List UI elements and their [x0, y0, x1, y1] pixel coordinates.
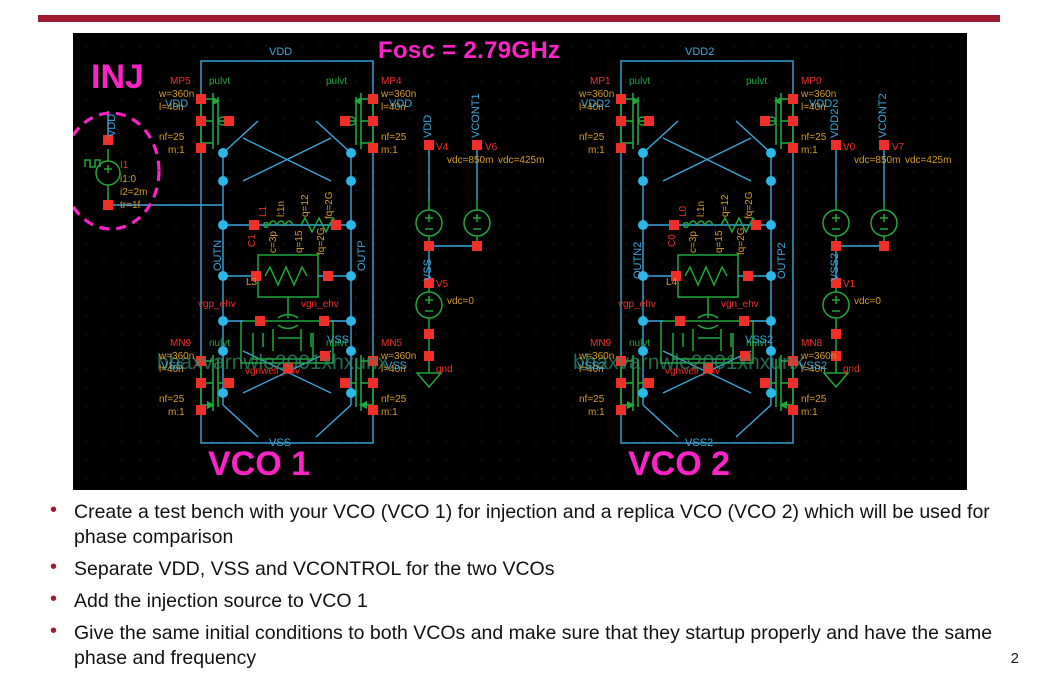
vco1-mp4-nf: nf=25: [381, 133, 406, 143]
fosc-title: Fosc = 2.79GHz: [378, 37, 560, 65]
vco1-supply-vcont-net: VCONT1: [471, 93, 482, 138]
list-item: • Give the same initial conditions to bo…: [46, 621, 1006, 671]
vco2-mp1-bulk: VDD2: [581, 99, 610, 110]
vco2-mp1-model: pulvt: [629, 77, 650, 87]
vco2-mn8-m: m:1: [801, 408, 818, 418]
vco1-mp4-m: m:1: [381, 146, 398, 156]
vco2-source-v7-value: vdc=425m: [905, 156, 951, 166]
vco1-source-v6-name: V6: [485, 143, 497, 153]
slide-root: Fosc = 2.79GHz INJ VCO 1 VCO 2 bbaxvarnw…: [0, 0, 1037, 689]
vco1-inductor-fq: fq=2G: [325, 191, 335, 219]
vco1-cap-c: c=3p: [269, 231, 279, 253]
vco2-cap-q: q=15: [715, 230, 725, 253]
vco2-mn9-nf: nf=25: [579, 395, 604, 405]
bullet-list: • Create a test bench with your VCO (VCO…: [46, 500, 1006, 678]
vco1-mp4-model: pulvt: [326, 77, 347, 87]
vco1-source-v5-value: vdc=0: [447, 297, 474, 307]
vco2-outp2-label: OUTP2: [777, 242, 788, 279]
vco2-vgn-ehv-label: vgn_ehv: [721, 300, 759, 310]
vco2-mn9-m: m:1: [588, 408, 605, 418]
vco2-vss2-rail-label: VSS2: [685, 438, 713, 449]
vco1-mn9-m: m:1: [168, 408, 185, 418]
bullet-text: Separate VDD, VSS and VCONTROL for the t…: [74, 557, 1006, 582]
vco1-mp4-bulk: VDD: [389, 99, 412, 110]
vco1-outp-label: OUTP: [357, 240, 368, 271]
vco1-mp5-model: pulvt: [209, 77, 230, 87]
vco1-source-v4-name: V4: [436, 143, 448, 153]
vco2-source-v1-value: vdc=0: [854, 297, 881, 307]
vco2-source-v1-name: V1: [843, 280, 855, 290]
vco2-source-v0-name: V0: [843, 143, 855, 153]
vco1-mn5-name: MN5: [381, 339, 402, 349]
vco1-mn5-m: m:1: [381, 408, 398, 418]
bullet-text: Give the same initial conditions to both…: [74, 621, 1006, 671]
vco1-mp5-name: MP5: [170, 77, 191, 87]
vco2-inductor-q: q=12: [721, 194, 731, 217]
vco2-supply-vss2-net: VSS2: [830, 253, 841, 281]
inj-param-i1: i1:0: [120, 175, 136, 185]
vco2-annotation-label: VCO 2: [628, 445, 730, 484]
vco2-mn9-bulk: VSS2: [577, 361, 605, 372]
vco1-source-v4-value: vdc=850m: [447, 156, 493, 166]
vco1-mn9-bulk: VSS: [161, 361, 183, 372]
vco2-cap-c: c=3p: [689, 231, 699, 253]
vco1-mn9-nf: nf=25: [159, 395, 184, 405]
vco2-mn8-nf: nf=25: [801, 395, 826, 405]
bullet-text: Add the injection source to VCO 1: [74, 589, 1006, 614]
vco1-cap-fq: fq=2G: [317, 227, 327, 255]
vco2-res-label: L4: [666, 278, 677, 288]
bullet-dot-icon: •: [46, 589, 74, 609]
vco2-supply-vdd2-net: VDD2: [830, 109, 841, 138]
bullet-text: Create a test bench with your VCO (VCO 1…: [74, 500, 1006, 550]
vco1-supply-vss-net: VSS: [423, 259, 434, 281]
vco2-mp0-m: m:1: [801, 146, 818, 156]
vco1-mp5-bulk: VDD: [165, 99, 188, 110]
vco1-res-label: L3: [246, 278, 257, 288]
inj-param-tr: tr=1f: [120, 201, 140, 211]
list-item: • Create a test bench with your VCO (VCO…: [46, 500, 1006, 550]
vco1-inductor-l: l:1n: [277, 201, 287, 217]
vco2-inductor-fq: fq=2G: [745, 191, 755, 219]
vco2-source-v7-name: V7: [892, 143, 904, 153]
inj-annotation-label: INJ: [91, 58, 144, 97]
list-item: • Separate VDD, VSS and VCONTROL for the…: [46, 557, 1006, 582]
vco1-vgnwell-ehv-label: vgnwell_ehv: [245, 367, 300, 377]
inj-param-i2: i2=2m: [120, 188, 148, 198]
vco2-gnd-label: gnd: [843, 365, 860, 375]
vco2-vss2-tap-label: VSS2: [745, 335, 773, 346]
bullet-dot-icon: •: [46, 621, 74, 641]
vco1-inductor-q: q=12: [301, 194, 311, 217]
vco2-mn9-model: nulvt: [629, 339, 650, 349]
inj-vdd-net-label: VDD: [107, 114, 118, 137]
vco1-outn-label: OUTN: [213, 240, 224, 271]
vco1-mp5-m: m:1: [168, 146, 185, 156]
vco2-mn8-name: MN8: [801, 339, 822, 349]
vco1-vss-rail-label: VSS: [269, 438, 291, 449]
vco2-mp0-nf: nf=25: [801, 133, 826, 143]
vco2-cap-fq: fq=2G: [737, 227, 747, 255]
vco1-mn9-model: nulvt: [209, 339, 230, 349]
vco1-mn9-name: MN9: [170, 339, 191, 349]
page-number: 2: [1011, 650, 1019, 667]
vco2-supply-vcont2-net: VCONT2: [878, 93, 889, 138]
vco1-mp5-nf: nf=25: [159, 133, 184, 143]
vco1-vdd-rail-label: VDD: [269, 47, 292, 58]
vco1-supply-vdd-net: VDD: [423, 115, 434, 138]
bullet-dot-icon: •: [46, 500, 74, 520]
vco1-vgn-ehv-label: vgn_ehv: [301, 300, 339, 310]
schematic-canvas[interactable]: Fosc = 2.79GHz INJ VCO 1 VCO 2 bbaxvarnw…: [73, 33, 967, 490]
vco1-source-v5-name: V5: [436, 280, 448, 290]
vco2-mp1-name: MP1: [590, 77, 611, 87]
vco1-cap-q: q=15: [295, 230, 305, 253]
vco2-cap-name: C0: [668, 234, 678, 247]
vco2-vgp-ehv-label: vgp_ehv: [618, 300, 656, 310]
inj-source-name: I1: [120, 161, 128, 171]
vco2-inductor-l: l:1n: [697, 201, 707, 217]
list-item: • Add the injection source to VCO 1: [46, 589, 1006, 614]
vco1-annotation-label: VCO 1: [208, 445, 310, 484]
vco2-vdd2-rail-label: VDD2: [685, 47, 714, 58]
vco1-source-v6-value: vdc=425m: [498, 156, 544, 166]
vco2-mp1-m: m:1: [588, 146, 605, 156]
vco2-outn2-label: OUTN2: [633, 242, 644, 279]
vco2-mp0-model: pulvt: [746, 77, 767, 87]
vco2-source-v0-value: vdc=850m: [854, 156, 900, 166]
vco1-inductor-name: L1: [259, 206, 269, 217]
top-accent-bar: [38, 15, 1000, 22]
vco2-mn8-bulk: VSS2: [799, 361, 827, 372]
vco1-vss-tap-label: VSS: [327, 335, 349, 346]
vco2-inductor-name: L0: [679, 206, 689, 217]
vco1-mn5-bulk: VSS: [385, 361, 407, 372]
vco1-gnd-label: gnd: [436, 365, 453, 375]
vco1-vgp-ehv-label: vgp_ehv: [198, 300, 236, 310]
vco2-mn9-name: MN9: [590, 339, 611, 349]
vco1-mp4-name: MP4: [381, 77, 402, 87]
vco2-vgnwell-ehv-label: vgnwell_ehv: [665, 367, 720, 377]
bullet-dot-icon: •: [46, 557, 74, 577]
vco2-mp1-nf: nf=25: [579, 133, 604, 143]
vco1-cap-name: C1: [248, 234, 258, 247]
vco2-mp0-name: MP0: [801, 77, 822, 87]
vco1-mn5-nf: nf=25: [381, 395, 406, 405]
